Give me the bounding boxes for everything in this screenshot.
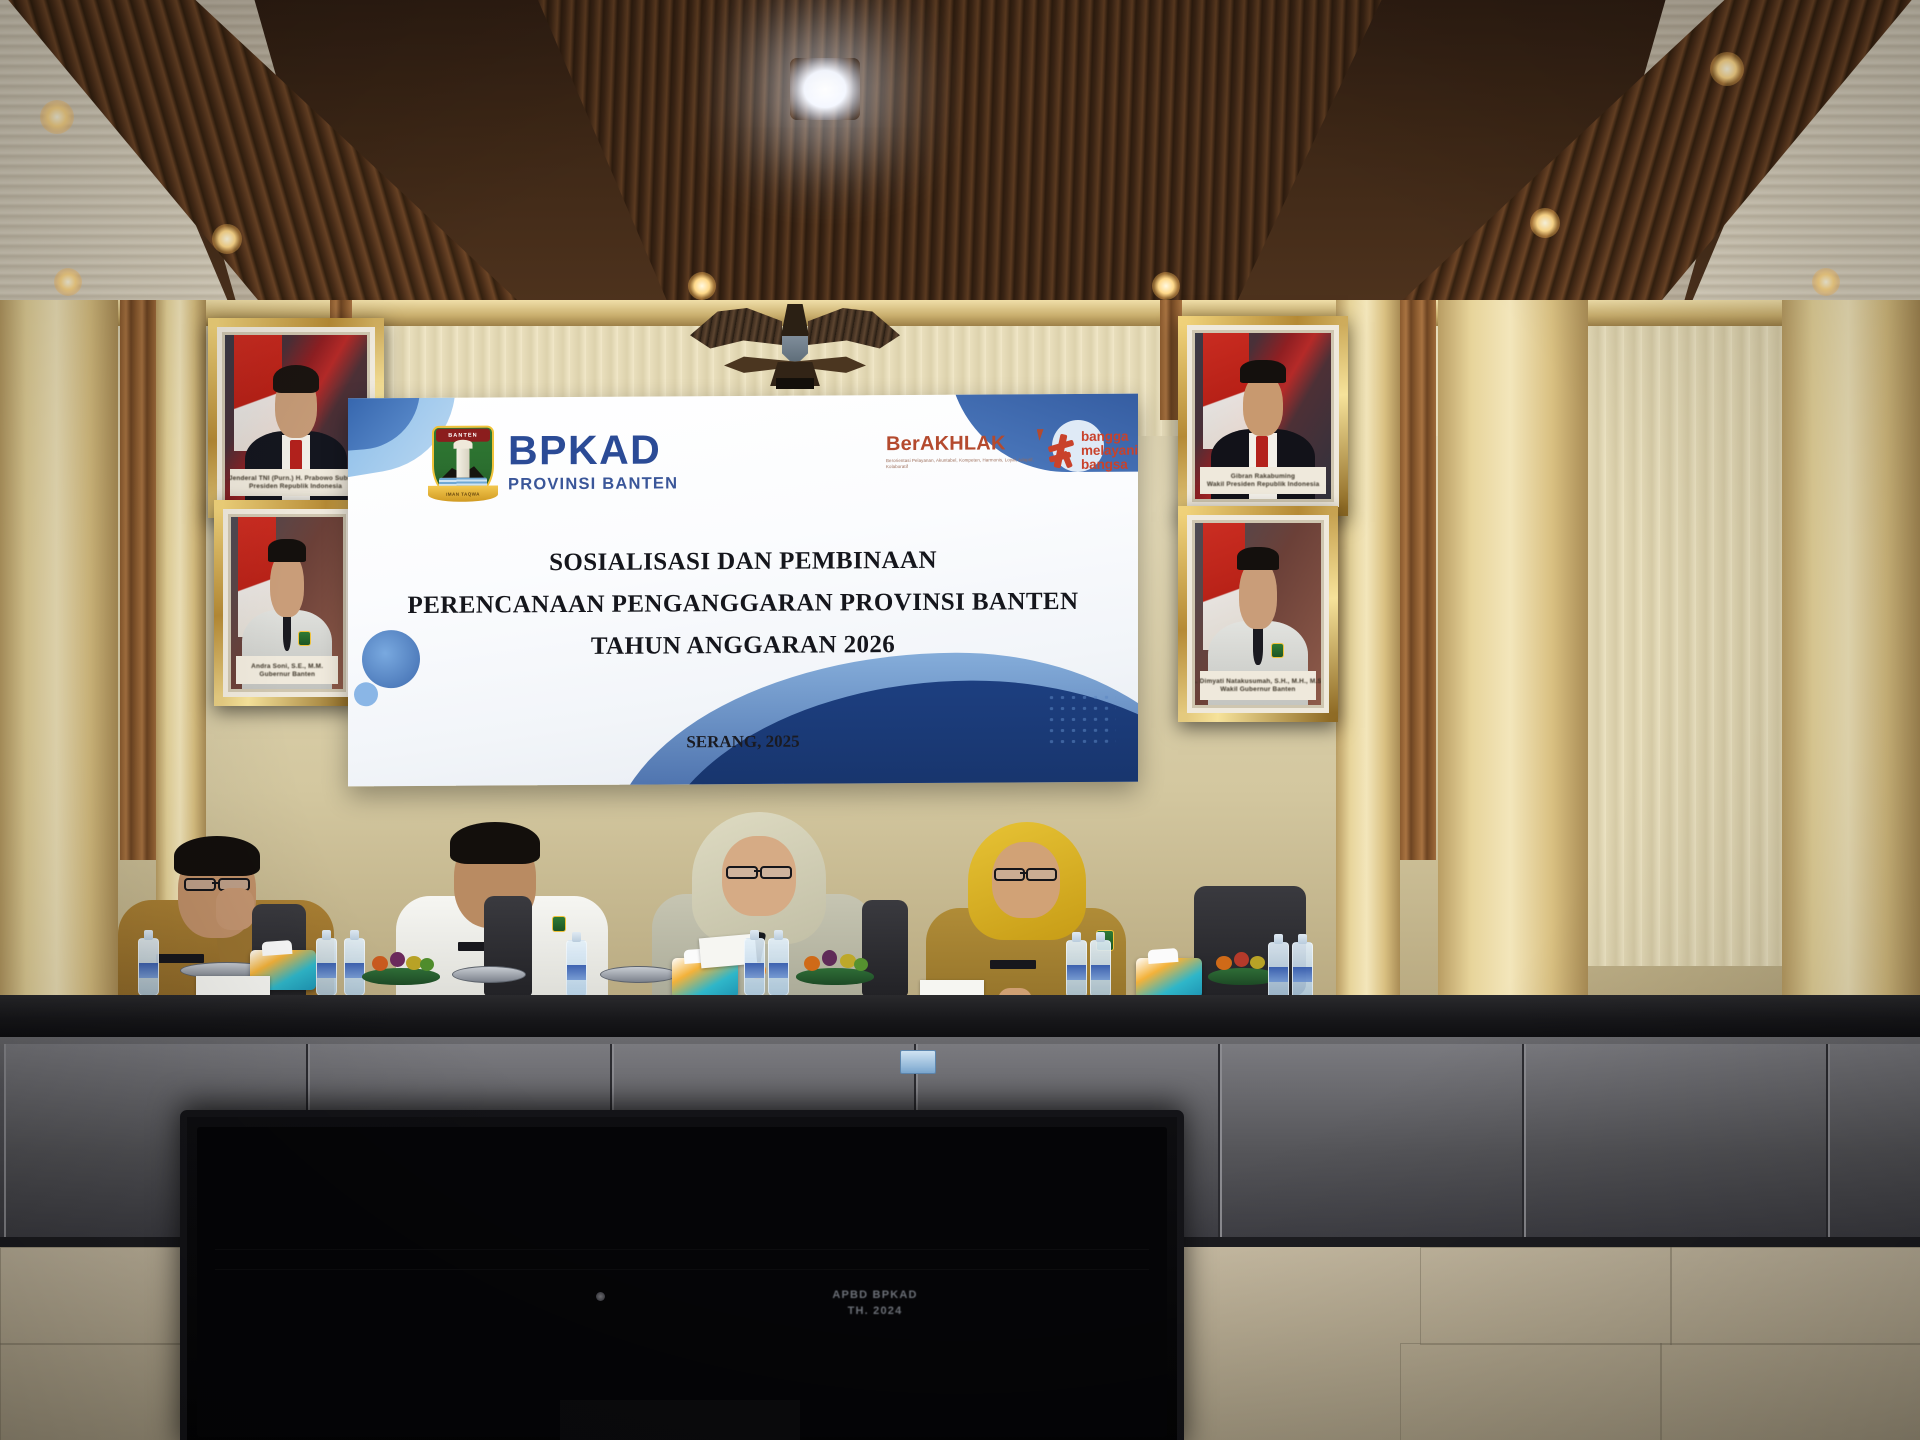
berakhlak-human-mark-icon: [1046, 434, 1072, 468]
portrait-frame-governor: Andra Soni, S.E., M.M. Gubernur Banten: [214, 500, 360, 706]
fruit-item: [372, 956, 388, 971]
tagline-line-2: melayani: [1081, 443, 1138, 457]
garuda-wing-right: [808, 308, 900, 352]
panelist-1-nametag: [156, 954, 204, 963]
fruit-item: [1250, 956, 1265, 969]
wall-pilaster-far-right: [1782, 300, 1920, 1000]
fruit-item: [390, 952, 405, 967]
monitor-stand: [560, 1400, 800, 1440]
panelist-1-hair: [174, 836, 260, 876]
floor-tile: [1670, 1247, 1920, 1345]
portrait-tie: [283, 613, 292, 651]
berakhlak-text-block: BerAKHLAK Berorientasi Pelayanan, Akunta…: [886, 432, 1037, 471]
portrait-role: Wakil Presiden Republik Indonesia: [1207, 481, 1319, 487]
downlight-5: [54, 268, 82, 296]
bpkad-subtitle: PROVINSI BANTEN: [508, 474, 678, 494]
wall-pilaster-left-outer: [0, 300, 118, 1000]
portrait-peci-icon: [268, 539, 306, 561]
tissue-box-3: [1136, 958, 1202, 998]
fruit-item: [420, 958, 434, 971]
water-bottle-2: [316, 938, 337, 996]
head-table-top: [0, 995, 1920, 1039]
floor-tile: [1400, 1343, 1662, 1440]
portrait-hair: [273, 365, 318, 393]
panelist-4-glasses-bridge: [1020, 872, 1027, 874]
wall-panel-right-far: [1588, 326, 1782, 966]
fruit-item: [1234, 952, 1249, 967]
bpkad-acronym: BPKAD: [508, 429, 678, 471]
banner-title-line-3: TAHUN ANGGARAN 2026: [348, 630, 1138, 663]
fruit-item: [1216, 956, 1232, 970]
portrait-role: Gubernur Banten: [259, 671, 315, 677]
floor-tile: [1420, 1247, 1672, 1345]
panelist-2-collar-insignia: [552, 916, 566, 932]
portrait-tie: [1253, 625, 1263, 665]
dais-panel-7: [1828, 1044, 1920, 1240]
portrait-peci-icon: [1237, 547, 1280, 571]
water-bottle-4: [566, 940, 587, 998]
downlight-2: [1710, 52, 1744, 86]
bpkad-lockup: BANTEN IMAN TAQWA BPKAD PROVINSI BANTEN: [432, 424, 678, 500]
panelist-3-glasses-bridge: [754, 870, 761, 872]
meeting-room-photo: Jenderal TNI (Purn.) H. Prabowo Subianto…: [0, 0, 1920, 1440]
portrait-inner-vice-president: Gibran Rakabuming Wakil Presiden Republi…: [1192, 330, 1334, 502]
panelist-1-glasses-bridge: [212, 882, 219, 884]
monitor-asset-label: APBD BPKAD TH. 2024: [760, 1288, 990, 1320]
water-bottle-7: [1066, 940, 1087, 998]
banner-title-line-1: SOSIALISASI DAN PEMBINAAN: [348, 546, 1138, 579]
banten-crest-icon: BANTEN IMAN TAQWA: [432, 426, 494, 500]
portrait-role: Presiden Republik Indonesia: [249, 483, 342, 489]
berakhlak-subtitle: Berorientasi Pelayanan, Akuntabel, Kompe…: [886, 457, 1037, 471]
ceiling: [0, 0, 1920, 330]
panelist-4-nametag: [990, 960, 1036, 969]
dais-panel-6: [1524, 1044, 1828, 1240]
garuda-wing-left: [690, 308, 782, 352]
wall-wood-trim-left: [120, 300, 156, 860]
monitor-seam-2: [215, 1269, 1149, 1270]
panelist-4-glasses-icon-right: [1026, 868, 1057, 881]
tagline-line-3: bangsa: [1081, 457, 1138, 471]
portrait-role: Wakil Gubernur Banten: [1220, 686, 1295, 692]
portrait-inner-vice-governor: A. Dimyati Natakusumah, S.H., M.H., M.Si…: [1192, 520, 1324, 708]
crest-top-label: BANTEN: [448, 432, 478, 438]
serving-tray-2: [452, 966, 526, 983]
downlight-4: [1530, 208, 1560, 238]
wall-pilaster-right-outer: [1438, 300, 1588, 1000]
portrait-insignia: [298, 631, 311, 646]
downlight-1: [40, 100, 74, 134]
ceiling-panel-light: [790, 58, 860, 120]
fruit-item: [804, 956, 820, 971]
berakhlak-tagline: bangga melayani bangsa: [1081, 430, 1138, 472]
document-sheet: [196, 976, 270, 996]
berakhlak-lockup: BerAKHLAK Berorientasi Pelayanan, Akunta…: [886, 430, 1138, 473]
tagline-line-1: bangga: [1081, 430, 1138, 444]
crest-ribbon: IMAN TAQWA: [428, 485, 498, 501]
panelist-3-glasses-icon-right: [760, 866, 792, 879]
portrait-caption-vice-president: Gibran Rakabuming Wakil Presiden Republi…: [1200, 467, 1326, 494]
crest-lighthouse: [457, 446, 470, 478]
portrait-frame-vice-president: Gibran Rakabuming Wakil Presiden Republi…: [1178, 316, 1348, 516]
portrait-caption-governor: Andra Soni, S.E., M.M. Gubernur Banten: [236, 656, 338, 684]
water-bottle-10: [1292, 942, 1313, 1000]
crest-ribbon-label: IMAN TAQWA: [446, 491, 480, 496]
portrait-name: Andra Soni, S.E., M.M.: [251, 663, 323, 669]
monitor-asset-line-1: APBD BPKAD: [760, 1288, 990, 1304]
water-bottle-8: [1090, 940, 1111, 998]
downlight-3: [212, 224, 242, 254]
monitor-power-led-icon: [596, 1292, 605, 1301]
serving-tray-3: [600, 966, 678, 983]
portrait-name: Jenderal TNI (Purn.) H. Prabowo Subianto: [228, 475, 363, 481]
dais-panel-5: [1220, 1044, 1524, 1240]
portrait-name: Gibran Rakabuming: [1231, 473, 1295, 479]
dais-plaque: [900, 1050, 936, 1074]
downlight-6: [688, 272, 716, 300]
banner-title-line-2: PERENCANAAN PENGANGGARAN PROVINSI BANTEN: [348, 588, 1138, 621]
monitor-asset-line-2: TH. 2024: [760, 1304, 990, 1320]
water-bottle-3: [344, 938, 365, 996]
portrait-insignia: [1271, 643, 1284, 658]
portrait-name: A. Dimyati Natakusumah, S.H., M.H., M.Si…: [1192, 678, 1324, 684]
monitor-seam-1: [215, 1249, 1149, 1250]
water-bottle-9: [1268, 942, 1289, 1000]
water-bottle-6: [768, 938, 789, 996]
panelist-3-glasses-icon: [726, 866, 758, 879]
panelist-1-glasses-icon: [184, 878, 216, 891]
banner-title-block: SOSIALISASI DAN PEMBINAAN PERENCANAAN PE…: [348, 546, 1138, 663]
portrait-caption-vice-governor: A. Dimyati Natakusumah, S.H., M.H., M.Si…: [1200, 671, 1316, 700]
chair-3[interactable]: [862, 900, 908, 996]
panelist-2-hair: [450, 822, 540, 864]
fruit-item: [854, 958, 868, 971]
presentation-monitor[interactable]: [180, 1110, 1184, 1440]
garuda-pancasila-icon: [690, 300, 900, 395]
downlight-8: [1812, 268, 1840, 296]
berakhlak-wordmark: BerAKHLAK: [886, 432, 1037, 456]
banner-circle-left-small: [354, 682, 378, 706]
event-banner: BANTEN IMAN TAQWA BPKAD PROVINSI BANTEN …: [348, 394, 1138, 787]
wall-wood-trim-right: [1400, 300, 1436, 860]
bpkad-wordmark: BPKAD PROVINSI BANTEN: [508, 429, 678, 494]
water-bottle-1: [138, 938, 159, 996]
panelist-1-hand: [216, 888, 254, 930]
portrait-frame-vice-governor: A. Dimyati Natakusumah, S.H., M.H., M.Si…: [1178, 506, 1338, 722]
fruit-item: [822, 950, 837, 966]
portrait-inner-governor: Andra Soni, S.E., M.M. Gubernur Banten: [228, 514, 346, 692]
garuda-base: [776, 378, 814, 389]
portrait-caption-president: Jenderal TNI (Purn.) H. Prabowo Subianto…: [230, 469, 362, 496]
portrait-peci-icon: [1240, 360, 1286, 383]
panelist-4-glasses-icon: [994, 868, 1025, 881]
monitor-screen[interactable]: [197, 1127, 1167, 1437]
floor-tile: [1660, 1343, 1920, 1440]
downlight-7: [1152, 272, 1180, 300]
water-bottle-5: [744, 938, 765, 996]
